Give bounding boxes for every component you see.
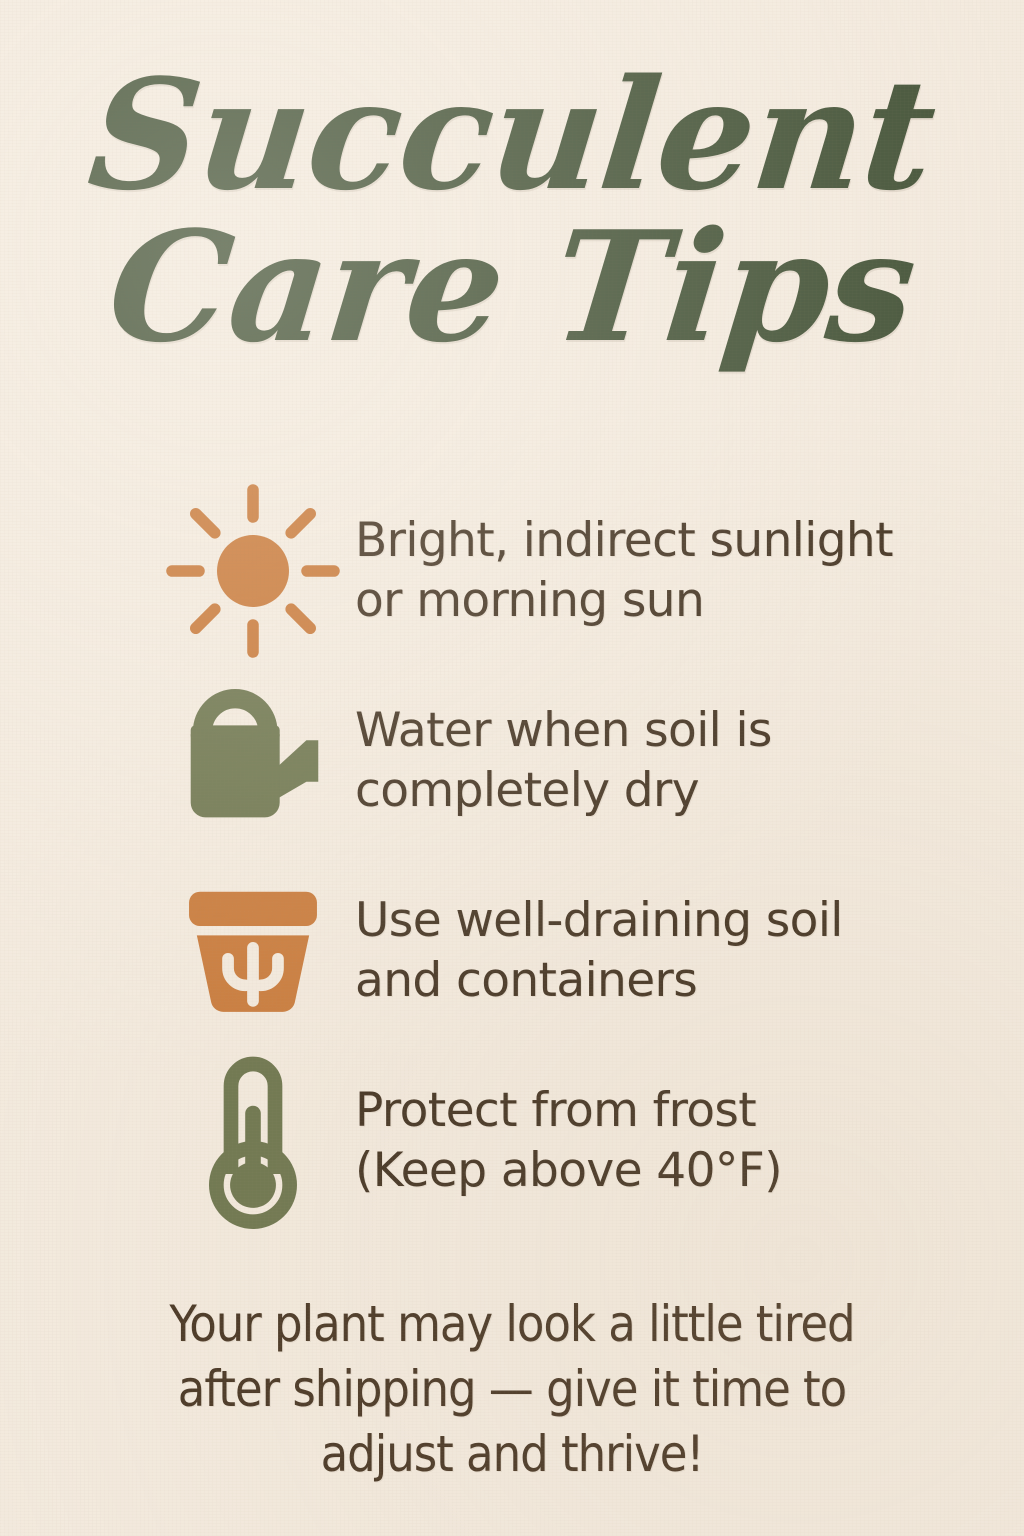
tip-row-sunlight: Bright, indirect sunlight or morning sun xyxy=(0,476,1024,666)
watering-can-icon xyxy=(150,686,355,836)
tips-list: Bright, indirect sunlight or morning sun xyxy=(0,476,1024,1236)
tip-line-2: completely dry xyxy=(355,761,772,821)
tip-row-watering: Water when soil is completely dry xyxy=(0,666,1024,856)
footer-line-2: after shipping — give it time to xyxy=(62,1357,962,1422)
tip-line-1: Water when soil is xyxy=(355,703,772,758)
tip-text-frost: Protect from frost (Keep above 40°F) xyxy=(355,1081,782,1201)
footer-line-3: adjust and thrive! xyxy=(62,1422,962,1487)
tip-text-soil: Use well-draining soil and containers xyxy=(355,891,843,1011)
thermometer-icon xyxy=(150,1053,355,1229)
tip-line-1: Use well-draining soil xyxy=(355,893,843,948)
tip-line-2: (Keep above 40°F) xyxy=(355,1141,782,1201)
title-line-1: Succulent xyxy=(0,62,1024,208)
page-title: Succulent Care Tips xyxy=(0,62,1024,360)
succulent-care-tips-poster: Succulent Care Tips xyxy=(0,0,1024,1536)
sun-icon xyxy=(150,481,355,661)
tip-row-soil: Use well-draining soil and containers xyxy=(0,856,1024,1046)
tip-line-2: and containers xyxy=(355,951,843,1011)
footer-note: Your plant may look a little tired after… xyxy=(62,1292,962,1487)
tip-line-1: Bright, indirect sunlight xyxy=(355,513,893,568)
footer-line-1: Your plant may look a little tired xyxy=(62,1292,962,1357)
tip-text-watering: Water when soil is completely dry xyxy=(355,701,772,821)
title-line-2: Care Tips xyxy=(0,214,1024,360)
plant-pot-icon xyxy=(150,873,355,1029)
tip-text-sunlight: Bright, indirect sunlight or morning sun xyxy=(355,511,893,631)
tip-line-1: Protect from frost xyxy=(355,1083,756,1138)
tip-line-2: or morning sun xyxy=(355,571,893,631)
tip-row-frost: Protect from frost (Keep above 40°F) xyxy=(0,1046,1024,1236)
